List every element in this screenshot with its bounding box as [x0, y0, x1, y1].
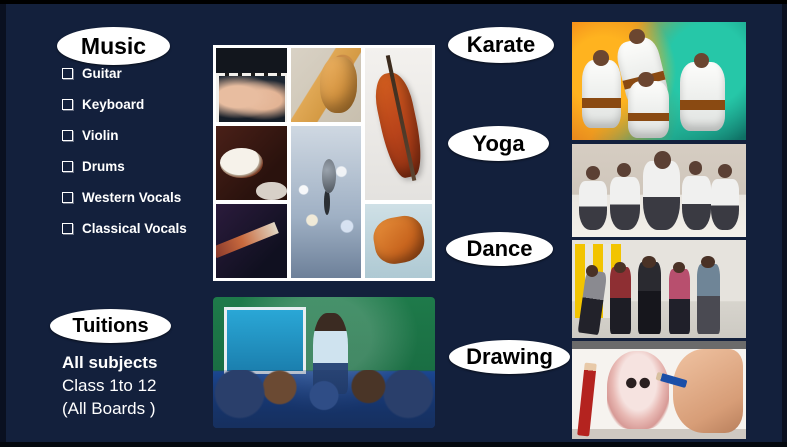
music-section-label: Music	[57, 27, 170, 65]
checkbox-square-icon[interactable]	[62, 99, 73, 110]
list-item-label: Violin	[82, 128, 119, 143]
karate-kids-photo	[572, 22, 746, 140]
tuitions-line-class: Class 1to 12	[62, 375, 157, 398]
acoustic-guitar-photo	[291, 48, 362, 122]
dance-label-text: Dance	[466, 238, 532, 260]
yoga-figure	[643, 161, 680, 230]
yoga-figure	[711, 179, 739, 229]
yoga-head	[689, 161, 703, 175]
dancer-head	[701, 256, 715, 269]
checkbox-square-icon[interactable]	[62, 130, 73, 141]
tuitions-line-boards: (All Boards )	[62, 398, 157, 421]
tuitions-heading-text: Tuitions	[72, 316, 148, 336]
yoga-head	[718, 164, 732, 178]
yoga-figure	[682, 176, 712, 230]
yoga-label-text: Yoga	[472, 133, 524, 155]
dancer-figure	[638, 262, 661, 335]
karate-head	[593, 50, 609, 65]
dancer-figure	[610, 267, 631, 334]
karate-head	[638, 72, 654, 87]
music-instruments-collage	[213, 45, 435, 281]
violin-with-bow-photo	[365, 48, 432, 200]
microphone-stage-photo	[291, 126, 362, 278]
karate-figure	[680, 62, 725, 130]
yoga-section-label: Yoga	[448, 126, 549, 161]
students-row	[213, 370, 435, 428]
checkbox-square-icon[interactable]	[62, 223, 73, 234]
bass-guitar-player-photo	[216, 204, 287, 278]
dance-section-label: Dance	[446, 232, 553, 266]
promotional-poster: Music Guitar Keyboard Violin Drums Weste…	[0, 0, 787, 447]
list-item[interactable]: Drums	[62, 159, 222, 174]
red-pencil-icon	[577, 362, 597, 435]
yoga-class-photo	[572, 144, 746, 237]
list-item[interactable]: Guitar	[62, 66, 222, 81]
yoga-head	[617, 163, 631, 177]
dancer-figure	[669, 269, 690, 334]
tuitions-section-label: Tuitions	[50, 309, 171, 343]
dancer-head	[614, 262, 626, 274]
yoga-figure	[579, 181, 607, 229]
karate-label-text: Karate	[467, 34, 535, 56]
list-item[interactable]: Violin	[62, 128, 222, 143]
karate-figure	[582, 60, 620, 128]
small-violin-photo	[365, 204, 432, 278]
list-item[interactable]: Keyboard	[62, 97, 222, 112]
drawing-hand	[673, 349, 743, 433]
karate-figure	[628, 81, 670, 138]
drum-kit-photo	[216, 126, 287, 200]
list-item[interactable]: Classical Vocals	[62, 221, 222, 236]
yoga-figure	[610, 177, 640, 229]
list-item-label: Classical Vocals	[82, 221, 187, 236]
portrait-sketch	[607, 351, 670, 429]
list-item-label: Keyboard	[82, 97, 144, 112]
classroom-teacher-students-photo	[213, 297, 435, 428]
dancer-head	[642, 256, 656, 269]
list-item-label: Western Vocals	[82, 190, 181, 205]
classroom-board	[224, 307, 305, 373]
drawing-section-label: Drawing	[449, 340, 570, 374]
drawing-label-text: Drawing	[466, 346, 553, 368]
piano-keyboard-hands-photo	[216, 48, 287, 122]
yoga-head	[586, 166, 600, 180]
checkbox-square-icon[interactable]	[62, 192, 73, 203]
karate-section-label: Karate	[448, 27, 554, 63]
checkbox-square-icon[interactable]	[62, 68, 73, 79]
music-heading-text: Music	[81, 35, 146, 58]
checkbox-square-icon[interactable]	[62, 161, 73, 172]
music-course-list: Guitar Keyboard Violin Drums Western Voc…	[62, 66, 222, 252]
dancer-figure	[697, 264, 720, 335]
dance-group-photo	[572, 240, 746, 338]
drawing-sketch-photo	[572, 341, 746, 439]
list-item-label: Guitar	[82, 66, 122, 81]
tuitions-details: All subjects Class 1to 12 (All Boards )	[62, 352, 157, 421]
list-item[interactable]: Western Vocals	[62, 190, 222, 205]
tuitions-line-subjects: All subjects	[62, 352, 157, 375]
list-item-label: Drums	[82, 159, 125, 174]
